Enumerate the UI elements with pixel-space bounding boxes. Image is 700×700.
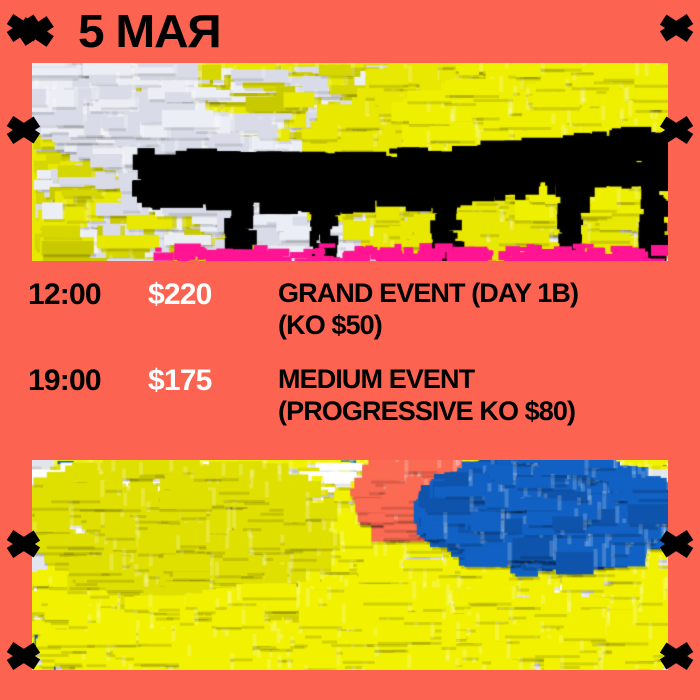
event-row: 19:00 $175 MEDIUM EVENT (PROGRESSIVE KO …: [0, 364, 700, 428]
tape-mark-mid-left: [6, 108, 50, 152]
event-price: $220: [148, 278, 278, 312]
event-title-line2: (KO $50): [278, 310, 684, 342]
tape-mark-bottom-left: [6, 634, 50, 678]
event-time: 19:00: [28, 364, 148, 398]
event-title-line2: (PROGRESSIVE KO $80): [278, 396, 684, 428]
event-title-line1: MEDIUM EVENT: [278, 364, 474, 394]
event-time: 12:00: [28, 278, 148, 312]
tape-mark-lower-right: [650, 522, 694, 566]
tape-mark-bottom-right: [650, 634, 694, 678]
event-title: GRAND EVENT (DAY 1B) (KO $50): [278, 278, 700, 342]
event-row: 12:00 $220 GRAND EVENT (DAY 1B) (KO $50): [0, 278, 700, 342]
event-price: $175: [148, 364, 278, 398]
tape-mark-mid-right: [650, 108, 694, 152]
event-schedule: 12:00 $220 GRAND EVENT (DAY 1B) (KO $50)…: [0, 278, 700, 449]
glitch-artwork-bottom: [32, 460, 668, 670]
glitch-artwork-top: [32, 63, 668, 261]
event-title: MEDIUM EVENT (PROGRESSIVE KO $80): [278, 364, 700, 428]
tape-mark-lower-left: [6, 522, 50, 566]
poster-root: 5 МАЯ 12:00 $220 GRAND EVENT (DAY 1B) (K…: [0, 0, 700, 700]
event-title-line1: GRAND EVENT (DAY 1B): [278, 278, 578, 308]
page-title: 5 МАЯ: [78, 8, 220, 54]
tape-mark-top-right: [650, 6, 694, 50]
tape-mark-top-left: [6, 6, 50, 50]
poster-header: 5 МАЯ: [0, 0, 700, 62]
